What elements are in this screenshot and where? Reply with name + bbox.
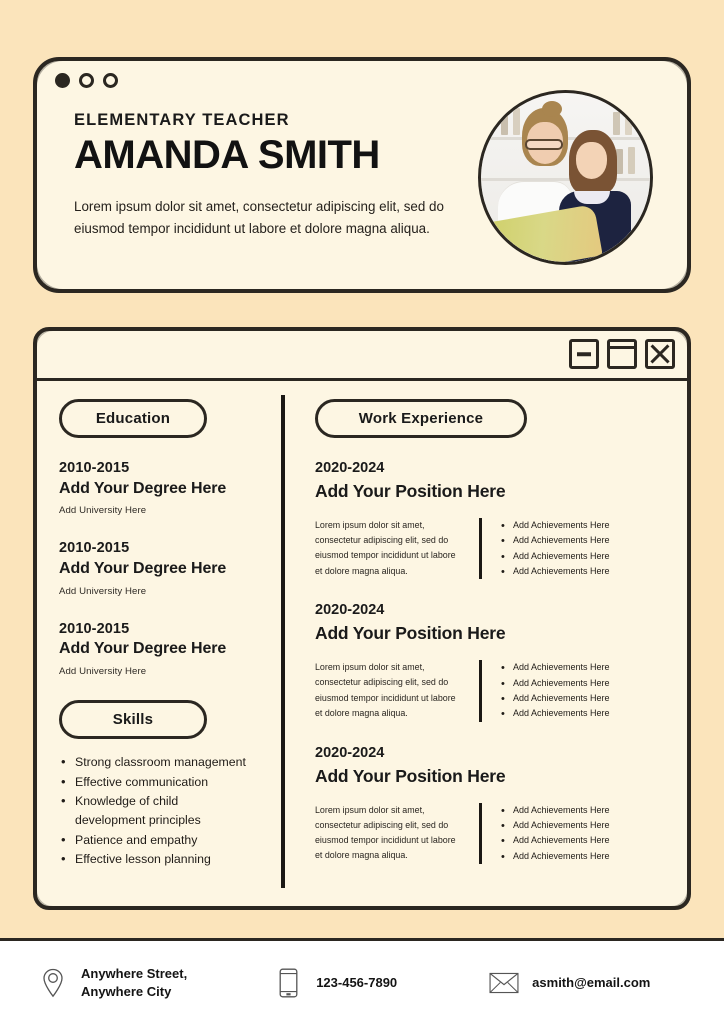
photo-girl-face: [576, 142, 607, 179]
skills-section: Skills Strong classroom management Effec…: [59, 700, 267, 870]
list-item: Add Achievements Here: [500, 676, 671, 691]
location-pin-icon: [38, 966, 68, 1000]
list-item: Add Achievements Here: [500, 803, 671, 818]
work-experience-heading: Work Experience: [315, 399, 527, 438]
work-item: 2020-2024 Add Your Position Here Lorem i…: [315, 459, 671, 579]
work-description: Lorem ipsum dolor sit amet, consectetur …: [315, 803, 465, 865]
work-inner-divider: [479, 518, 482, 580]
window-dot-filled-icon: [55, 73, 70, 88]
maximize-icon[interactable]: [607, 339, 637, 369]
education-list: 2010-2015 Add Your Degree Here Add Unive…: [59, 459, 267, 677]
education-heading: Education: [59, 399, 207, 438]
list-item-continuation: development principles: [59, 811, 267, 830]
education-university: Add University Here: [59, 505, 267, 516]
right-column: Work Experience 2020-2024 Add Your Posit…: [285, 381, 687, 906]
panel-body: Education 2010-2015 Add Your Degree Here…: [37, 381, 687, 906]
education-university: Add University Here: [59, 586, 267, 597]
work-inner-divider: [479, 660, 482, 722]
list-item: Effective communication: [59, 773, 267, 792]
contact-phone: 123-456-7890: [273, 966, 397, 1000]
list-item: Patience and empathy: [59, 831, 267, 850]
work-position: Add Your Position Here: [315, 480, 671, 503]
list-item: Effective lesson planning: [59, 850, 267, 869]
work-year: 2020-2024: [315, 459, 671, 478]
list-item: Add Achievements Here: [500, 533, 671, 548]
work-item: 2020-2024 Add Your Position Here Lorem i…: [315, 601, 671, 721]
work-year: 2020-2024: [315, 744, 671, 763]
education-item: 2010-2015 Add Your Degree Here Add Unive…: [59, 620, 267, 677]
contact-email: asmith@email.com: [489, 966, 650, 1000]
resume-page: ELEMENTARY TEACHER AMANDA SMITH Lorem ip…: [0, 0, 724, 1024]
left-column: Education 2010-2015 Add Your Degree Here…: [37, 381, 281, 906]
address-line-2: Anywhere City: [81, 984, 171, 999]
list-item: Strong classroom management: [59, 753, 267, 772]
achievements-list: Add Achievements Here Add Achievements H…: [500, 660, 671, 722]
list-item: Add Achievements Here: [500, 833, 671, 848]
list-item: Add Achievements Here: [500, 691, 671, 706]
phone-icon: [273, 966, 303, 1000]
work-year: 2020-2024: [315, 601, 671, 620]
envelope-icon: [489, 966, 519, 1000]
phone-text: 123-456-7890: [316, 974, 397, 992]
profile-photo: [481, 93, 650, 262]
address-text: Anywhere Street, Anywhere City: [81, 965, 187, 1001]
work-experience-list: 2020-2024 Add Your Position Here Lorem i…: [315, 459, 671, 864]
header-card: ELEMENTARY TEACHER AMANDA SMITH Lorem ip…: [33, 57, 691, 293]
education-item: 2010-2015 Add Your Degree Here Add Unive…: [59, 459, 267, 516]
list-item: Add Achievements Here: [500, 549, 671, 564]
work-description: Lorem ipsum dolor sit amet, consectetur …: [315, 518, 465, 580]
contact-address: Anywhere Street, Anywhere City: [38, 965, 187, 1001]
window-controls: [569, 339, 675, 369]
work-description: Lorem ipsum dolor sit amet, consectetur …: [315, 660, 465, 722]
education-item: 2010-2015 Add Your Degree Here Add Unive…: [59, 539, 267, 596]
work-item: 2020-2024 Add Your Position Here Lorem i…: [315, 744, 671, 864]
panel-titlebar: [37, 331, 687, 381]
photo-glasses-icon: [525, 139, 563, 150]
main-panel: Education 2010-2015 Add Your Degree Here…: [33, 327, 691, 910]
list-item: Add Achievements Here: [500, 818, 671, 833]
page-title: AMANDA SMITH: [74, 134, 454, 176]
window-dot-outline-icon-1: [79, 73, 94, 88]
list-item: Add Achievements Here: [500, 849, 671, 864]
education-year: 2010-2015: [59, 620, 267, 640]
window-dots: [55, 73, 118, 88]
achievements-list: Add Achievements Here Add Achievements H…: [500, 518, 671, 580]
skills-list: Strong classroom management Effective co…: [59, 753, 267, 870]
contact-footer: Anywhere Street, Anywhere City 123-456-7…: [0, 938, 724, 1024]
education-university: Add University Here: [59, 666, 267, 677]
education-degree: Add Your Degree Here: [59, 639, 267, 660]
list-item: Knowledge of child: [59, 792, 267, 811]
header-text-block: ELEMENTARY TEACHER AMANDA SMITH Lorem ip…: [74, 111, 454, 239]
education-year: 2010-2015: [59, 539, 267, 559]
job-role: ELEMENTARY TEACHER: [74, 111, 454, 130]
work-inner-divider: [479, 803, 482, 865]
education-degree: Add Your Degree Here: [59, 559, 267, 580]
list-item: Add Achievements Here: [500, 660, 671, 675]
address-line-1: Anywhere Street,: [81, 966, 187, 981]
education-degree: Add Your Degree Here: [59, 479, 267, 500]
list-item: Add Achievements Here: [500, 706, 671, 721]
skills-heading: Skills: [59, 700, 207, 739]
window-dot-outline-icon-2: [103, 73, 118, 88]
close-icon[interactable]: [645, 339, 675, 369]
achievements-list: Add Achievements Here Add Achievements H…: [500, 803, 671, 865]
education-year: 2010-2015: [59, 459, 267, 479]
list-item: Add Achievements Here: [500, 564, 671, 579]
work-position: Add Your Position Here: [315, 765, 671, 788]
list-item: Add Achievements Here: [500, 518, 671, 533]
email-text: asmith@email.com: [532, 974, 650, 992]
minimize-icon[interactable]: [569, 339, 599, 369]
avatar: [478, 90, 653, 265]
profile-summary: Lorem ipsum dolor sit amet, consectetur …: [74, 196, 454, 239]
work-position: Add Your Position Here: [315, 622, 671, 645]
